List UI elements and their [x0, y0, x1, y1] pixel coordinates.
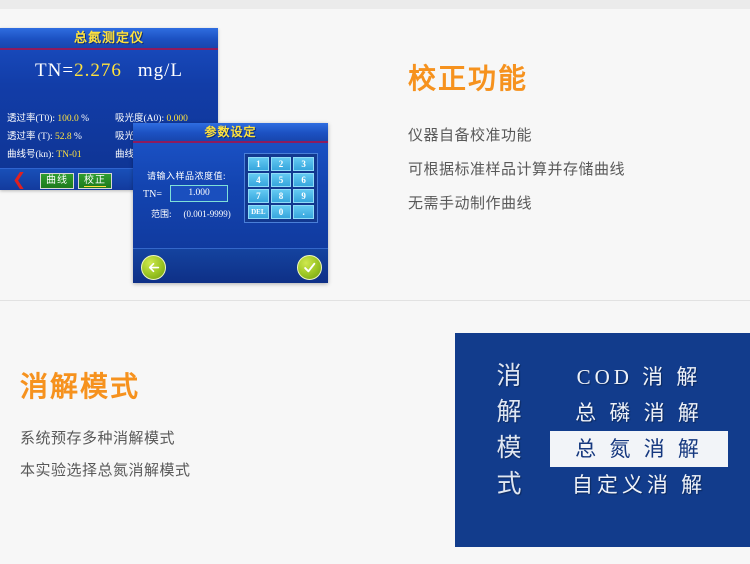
key-6[interactable]: 6	[293, 173, 314, 187]
digestion-line-2: 本实验选择总氮消解模式	[20, 459, 191, 480]
range-value: (0.001-9999)	[184, 209, 231, 219]
key-2[interactable]: 2	[271, 157, 292, 171]
readout-row-col2: 曲线	[115, 146, 134, 160]
measurement-readout: TN=2.276mg/L	[0, 60, 218, 82]
measurement-value: 2.276	[74, 60, 122, 81]
mode-item-cod[interactable]: COD 消 解	[550, 359, 728, 395]
transmittance-t-label: 透过率 (T):	[7, 132, 53, 142]
calibration-heading: 校正功能	[408, 64, 528, 95]
curve-number-label: 曲线号(kn):	[7, 150, 54, 160]
key-3[interactable]: 3	[293, 157, 314, 171]
digestion-line-1: 系统预存多种消解模式	[20, 427, 175, 448]
digestion-mode-side-label: 消 解 模 式	[483, 359, 535, 503]
key-5[interactable]: 5	[271, 173, 292, 187]
dialog-footer	[133, 248, 328, 283]
digestion-heading: 消解模式	[20, 372, 140, 403]
side-label-char-1: 消	[483, 359, 535, 395]
numeric-keypad[interactable]: 1 2 3 4 5 6 7 8 9 DEL 0 .	[244, 153, 318, 223]
calibration-line-1: 仪器自备校准功能	[408, 124, 532, 145]
side-label-char-2: 解	[483, 395, 535, 431]
key-1[interactable]: 1	[248, 157, 269, 171]
key-8[interactable]: 8	[271, 189, 292, 203]
range-label: 范围:	[151, 209, 172, 219]
readout-row-col2: 吸光度(A0): 0.000	[115, 110, 188, 124]
measurement-label: TN=	[35, 60, 74, 81]
transmittance-t0-unit: %	[81, 114, 89, 124]
calibration-line-2: 可根据标准样品计算并存储曲线	[408, 158, 625, 179]
mode-item-total-phosphorus[interactable]: 总 磷 消 解	[550, 395, 728, 431]
dialog-titlebar: 参数设定	[133, 123, 328, 143]
device-title: 总氮测定仪	[0, 28, 218, 48]
transmittance-t0-label: 透过率(T0):	[7, 114, 55, 124]
top-strip	[0, 0, 750, 9]
dialog-title: 参数设定	[133, 123, 328, 141]
key-9[interactable]: 9	[293, 189, 314, 203]
dialog-prompt: 请输入样品浓度值:	[147, 169, 226, 182]
back-arrow-icon[interactable]	[141, 255, 166, 280]
key-7[interactable]: 7	[248, 189, 269, 203]
range-hint: 范围:(0.001-9999)	[151, 207, 231, 220]
calibrate-button-label: 校正	[84, 175, 106, 187]
key-4[interactable]: 4	[248, 173, 269, 187]
key-decimal-point[interactable]: .	[293, 205, 314, 219]
side-label-char-3: 模	[483, 431, 535, 467]
digestion-mode-list[interactable]: COD 消 解 总 磷 消 解 总 氮 消 解 自定义消 解	[550, 359, 728, 503]
concentration-field-label: TN=	[143, 189, 162, 200]
calibration-line-3: 无需手动制作曲线	[408, 192, 532, 213]
transmittance-t-unit: %	[74, 132, 82, 142]
key-0[interactable]: 0	[271, 205, 292, 219]
transmittance-t-value: 52.8	[55, 132, 72, 142]
back-arrow-icon[interactable]: ❮	[12, 172, 26, 188]
key-delete[interactable]: DEL	[248, 205, 269, 219]
calibrate-button[interactable]: 校正	[78, 173, 112, 189]
section-divider	[0, 300, 750, 301]
device-titlebar: 总氮测定仪	[0, 28, 218, 50]
readout-row: 透过率(T0): 100.0 % 吸光度(A0): 0.000	[7, 110, 213, 124]
mode-item-custom[interactable]: 自定义消 解	[550, 467, 728, 503]
concentration-input[interactable]: 1.000	[170, 185, 228, 202]
curve-extra-label: 曲线	[115, 150, 134, 160]
confirm-check-icon[interactable]	[297, 255, 322, 280]
curve-button[interactable]: 曲线	[40, 173, 74, 189]
transmittance-t0-value: 100.0	[57, 114, 78, 124]
device-screen-parameter-dialog[interactable]: 参数设定 请输入样品浓度值: TN= 1.000 范围:(0.001-9999)…	[133, 123, 328, 283]
side-label-char-4: 式	[483, 467, 535, 503]
mode-item-total-nitrogen[interactable]: 总 氮 消 解	[550, 431, 728, 467]
measurement-unit: mg/L	[138, 60, 183, 81]
curve-number-value: TN-01	[56, 150, 81, 160]
digestion-mode-panel[interactable]: 消 解 模 式 COD 消 解 总 磷 消 解 总 氮 消 解 自定义消 解	[455, 333, 750, 547]
